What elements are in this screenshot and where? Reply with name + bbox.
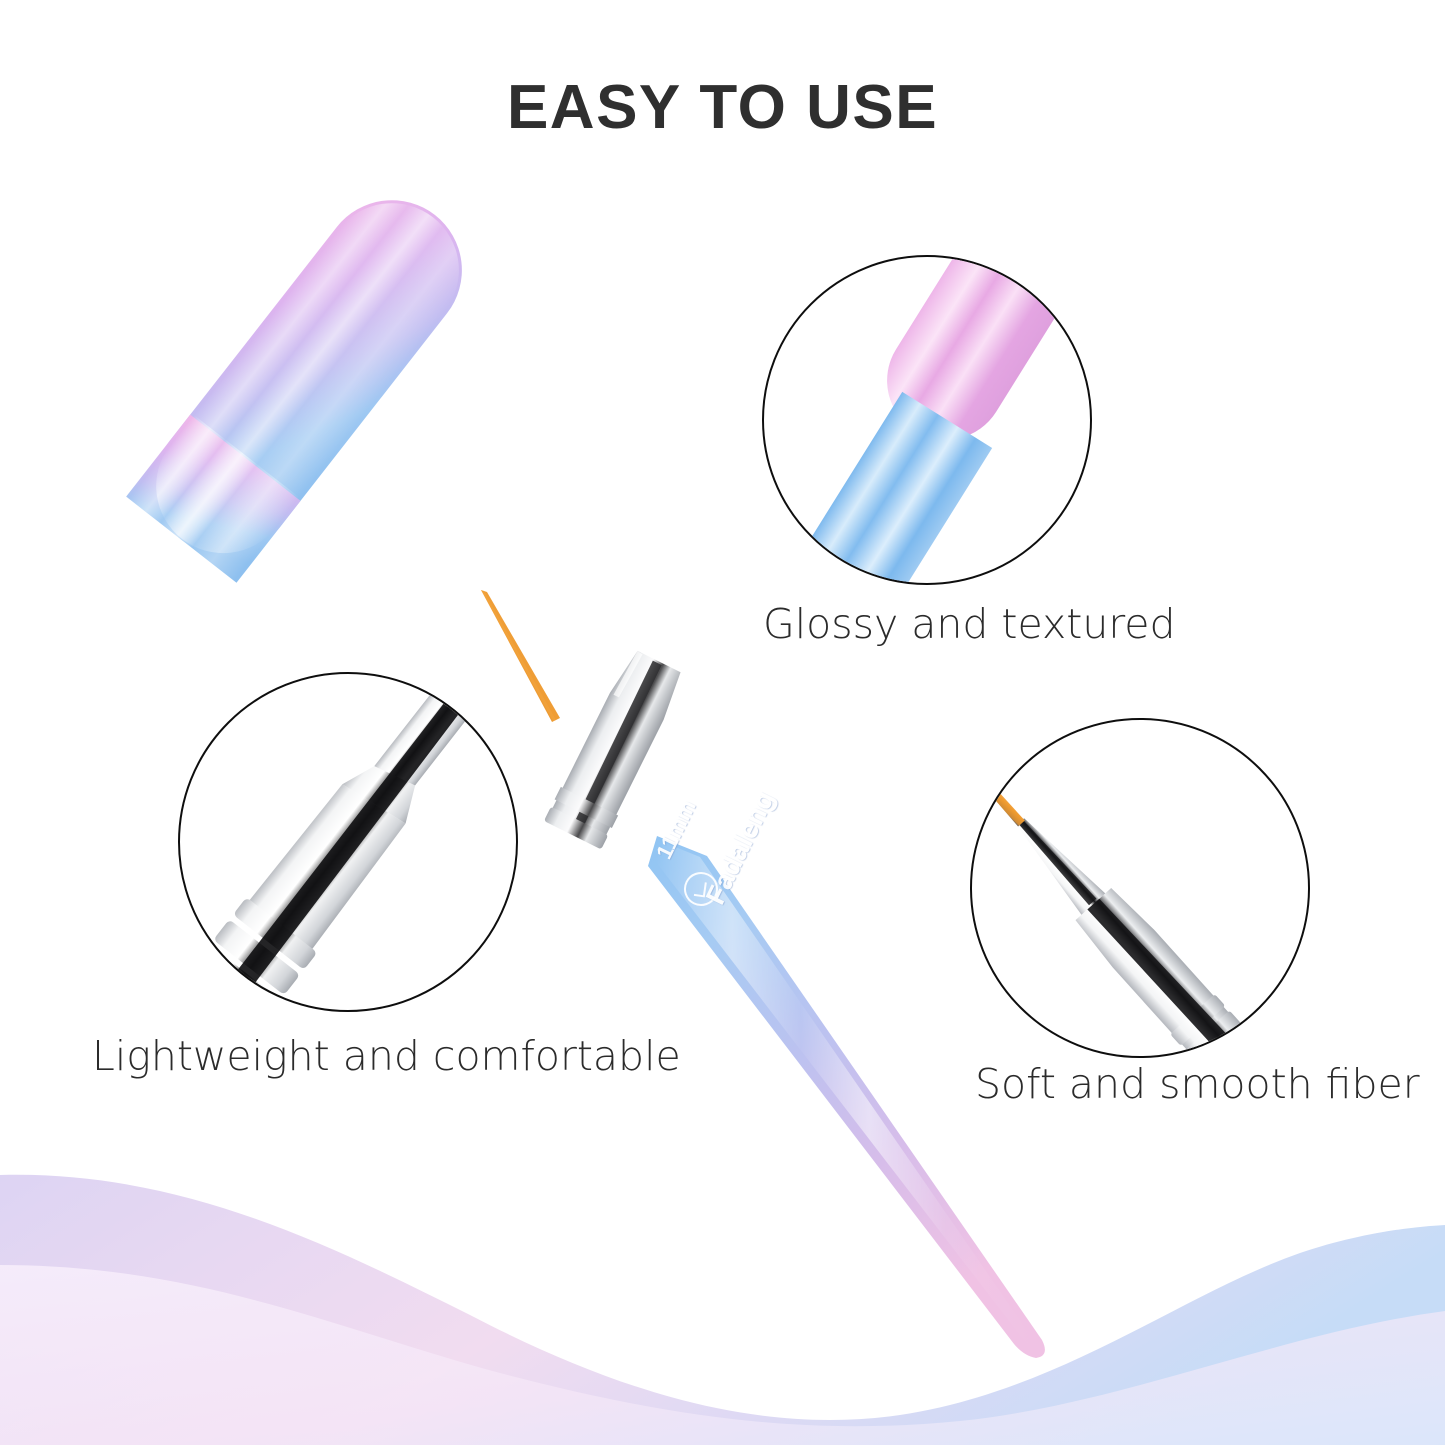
zoom-circle-glossy <box>762 255 1092 585</box>
zoom-circle-fiber <box>970 718 1310 1058</box>
caption-lightweight: Lightweight and comfortable <box>92 1032 681 1080</box>
lightweight-detail-illustration <box>180 674 516 1010</box>
zoom-circle-lightweight <box>178 672 518 1012</box>
brush-cap <box>126 172 490 583</box>
decorative-wave <box>0 1115 1445 1445</box>
infographic-canvas: 11mm Fadaleng EASY TO USE <box>0 0 1445 1445</box>
brush-ferrule <box>544 647 688 849</box>
handle-brand-label: Fadaleng <box>700 786 782 910</box>
fiber-detail-illustration <box>972 720 1308 1056</box>
caption-fiber: Soft and smooth fiber <box>975 1060 1420 1108</box>
glossy-detail-illustration <box>764 257 1090 583</box>
caption-glossy: Glossy and textured <box>763 600 1176 648</box>
page-title: EASY TO USE <box>0 72 1445 143</box>
handle-size-label: 11mm <box>651 796 702 863</box>
brand-logo-icon <box>678 866 723 911</box>
